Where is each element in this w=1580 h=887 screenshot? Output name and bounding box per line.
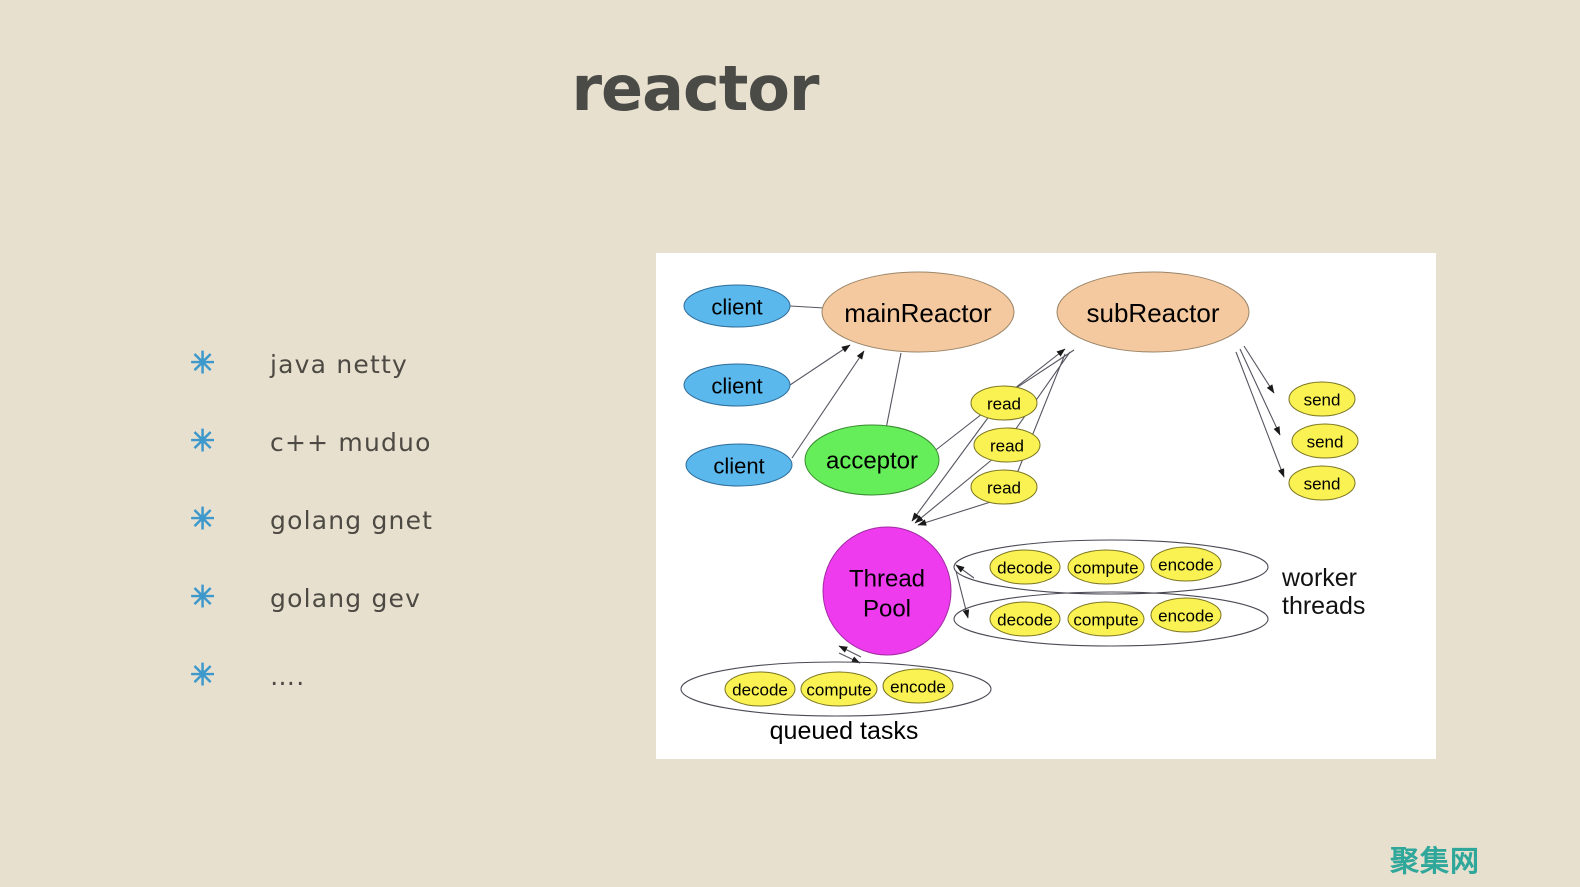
asterisk-bullet-icon: ✳ — [190, 661, 226, 691]
client-node-label: client — [711, 374, 762, 399]
client-node-1: client — [684, 285, 790, 327]
worker-stage-label: compute — [1073, 559, 1138, 578]
thread-pool-label-line2: Pool — [863, 596, 911, 623]
send-node-label: send — [1307, 433, 1344, 452]
read-node-label: read — [987, 395, 1021, 414]
worker-threads-caption-line1: worker — [1281, 564, 1357, 592]
queued-stage-label: decode — [732, 681, 788, 700]
acceptor-label: acceptor — [826, 448, 918, 475]
list-item-label: java netty — [270, 350, 408, 379]
worker-threads-caption: worker threads — [1281, 564, 1365, 620]
list-item: ✳ java netty — [190, 325, 610, 403]
queued-stage-label: compute — [806, 681, 871, 700]
list-item: ✳ c++ muduo — [190, 403, 610, 481]
worker-threads-caption-line2: threads — [1282, 592, 1365, 620]
asterisk-bullet-icon: ✳ — [190, 505, 226, 535]
list-item-label: golang gnet — [270, 506, 433, 535]
sub-reactor-node: subReactor — [1057, 272, 1249, 352]
asterisk-bullet-icon: ✳ — [190, 349, 226, 379]
list-item-label: …. — [270, 662, 305, 691]
list-item-label: c++ muduo — [270, 428, 432, 457]
reactor-architecture-diagram: client client client mainReactor subReac… — [656, 253, 1436, 759]
worker-stage-label: encode — [1158, 556, 1214, 575]
read-node-3: read — [971, 470, 1037, 504]
site-watermark: 聚集网 — [1390, 838, 1480, 880]
asterisk-bullet-icon: ✳ — [190, 583, 226, 613]
read-node-label: read — [990, 437, 1024, 456]
send-node-1: send — [1289, 382, 1355, 416]
queued-tasks-group: decode compute encode queued tasks — [681, 662, 991, 745]
send-node-label: send — [1304, 475, 1341, 494]
list-item: ✳ golang gnet — [190, 481, 610, 559]
main-reactor-node: mainReactor — [822, 272, 1014, 352]
queued-stage-label: encode — [890, 678, 946, 697]
send-node-2: send — [1292, 424, 1358, 458]
list-item-label: golang gev — [270, 584, 421, 613]
sub-reactor-label: subReactor — [1087, 298, 1220, 328]
worker-thread-row-1: decode compute encode — [954, 540, 1268, 594]
list-item: ✳ …. — [190, 637, 610, 715]
read-node-label: read — [987, 479, 1021, 498]
acceptor-node: acceptor — [805, 425, 939, 495]
worker-thread-row-2: decode compute encode — [954, 592, 1268, 646]
worker-stage-label: decode — [997, 611, 1053, 630]
worker-stage-label: encode — [1158, 607, 1214, 626]
read-node-2: read — [974, 428, 1040, 462]
client-node-3: client — [686, 444, 792, 486]
worker-stage-label: compute — [1073, 611, 1138, 630]
page-title: reactor — [0, 52, 1485, 125]
asterisk-bullet-icon: ✳ — [190, 427, 226, 457]
client-node-label: client — [713, 454, 764, 479]
client-node-2: client — [684, 364, 790, 406]
client-node-label: client — [711, 295, 762, 320]
send-node-3: send — [1289, 466, 1355, 500]
queued-tasks-caption: queued tasks — [770, 717, 919, 745]
read-node-1: read — [971, 386, 1037, 420]
send-node-label: send — [1304, 391, 1341, 410]
worker-stage-label: decode — [997, 559, 1053, 578]
list-item: ✳ golang gev — [190, 559, 610, 637]
feature-bullet-list: ✳ java netty ✳ c++ muduo ✳ golang gnet ✳… — [190, 325, 610, 715]
thread-pool-label-line1: Thread — [849, 566, 925, 593]
thread-pool-node: Thread Pool — [823, 527, 951, 655]
main-reactor-label: mainReactor — [844, 298, 992, 328]
